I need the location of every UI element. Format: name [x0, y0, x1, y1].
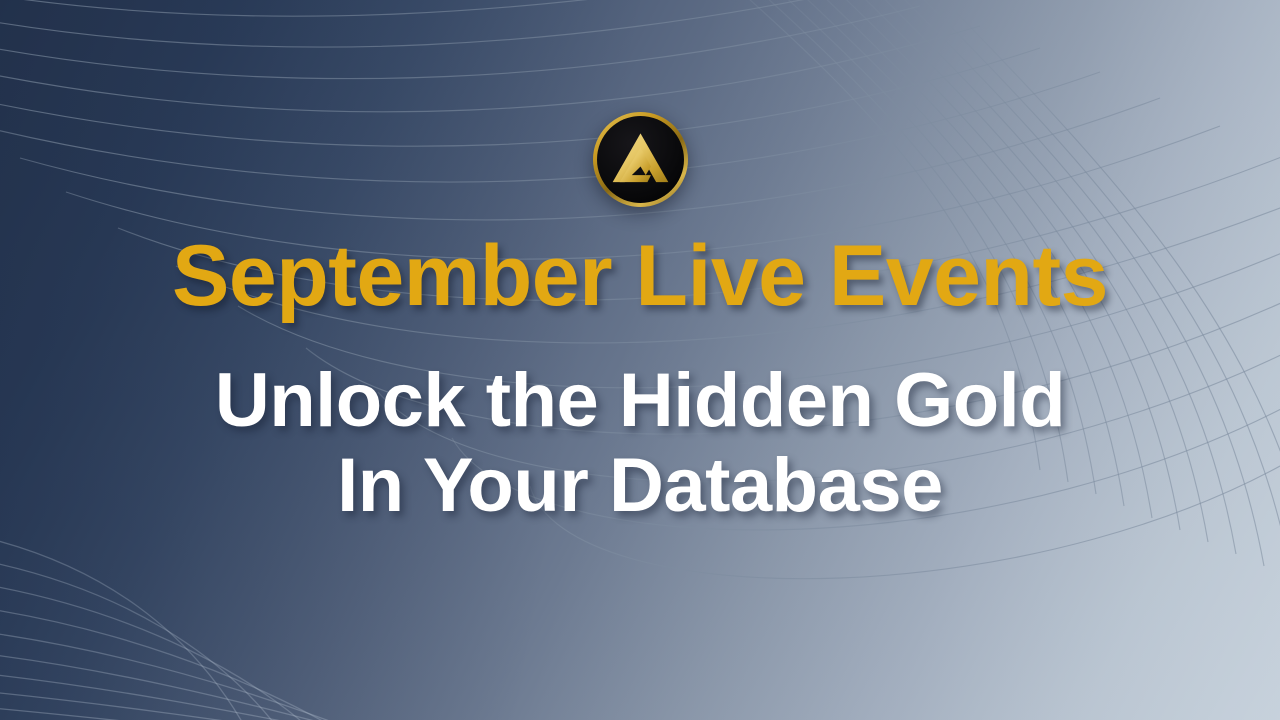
- arc-lines-group: [0, 534, 660, 720]
- main-heading-line-2: In Your Database: [0, 443, 1280, 528]
- logo-monogram-icon: [597, 116, 684, 203]
- main-heading: Unlock the Hidden Gold In Your Database: [0, 358, 1280, 528]
- main-heading-line-1: Unlock the Hidden Gold: [0, 358, 1280, 443]
- promo-slide: September Live Events Unlock the Hidden …: [0, 0, 1280, 720]
- eyebrow-heading: September Live Events: [0, 233, 1280, 319]
- brand-logo: [593, 112, 688, 207]
